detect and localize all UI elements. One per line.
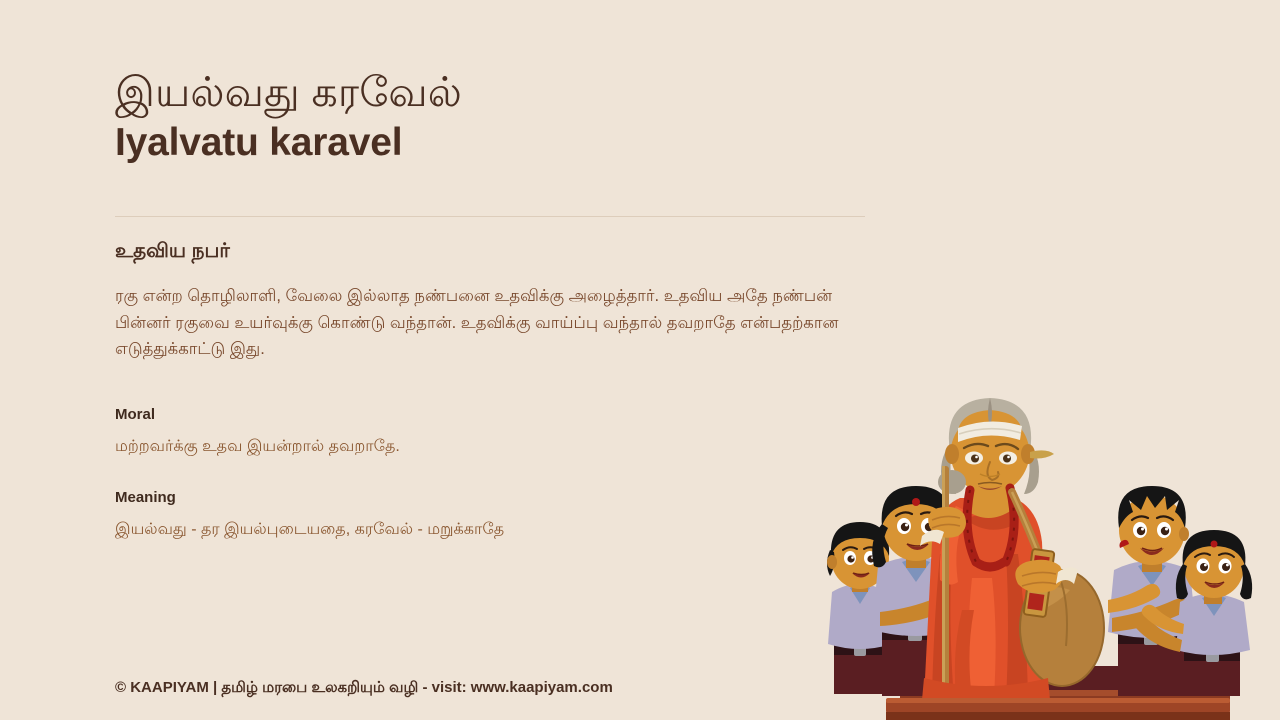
poster-page: இயல்வது கரவேல் Iyalvatu karavel உதவிய நப… xyxy=(0,0,1280,720)
moral-text: மற்றவர்க்கு உதவ இயன்றால் தவறாதே. xyxy=(115,435,855,459)
title-block: இயல்வது கரவேல் Iyalvatu karavel xyxy=(115,68,875,166)
footer-credit: © KAAPIYAM | தமிழ் மரபை உலகறியும் வழி - … xyxy=(115,678,613,698)
story-heading: உதவிய நபர் xyxy=(115,238,230,264)
page-title-tamil: இயல்வது கரவேல் xyxy=(115,68,875,116)
moral-label: Moral xyxy=(115,406,855,424)
moral-block: Moral மற்றவர்க்கு உதவ இயன்றால் தவறாதே. xyxy=(115,406,855,459)
header-divider xyxy=(115,216,865,217)
meaning-block: Meaning இயல்வது - தர இயல்புடையதை, கரவேல்… xyxy=(115,489,855,542)
page-title-transliteration: Iyalvatu karavel xyxy=(115,120,875,165)
story-paragraph: ரகு என்ற தொழிலாளி, வேலை இல்லாத நண்பனை உத… xyxy=(115,283,853,363)
swami-with-children-illustration xyxy=(812,378,1280,720)
meaning-label: Meaning xyxy=(115,489,855,507)
swami-figure xyxy=(920,398,1104,707)
meaning-text: இயல்வது - தர இயல்புடையதை, கரவேல் - மறுக்… xyxy=(115,518,855,542)
